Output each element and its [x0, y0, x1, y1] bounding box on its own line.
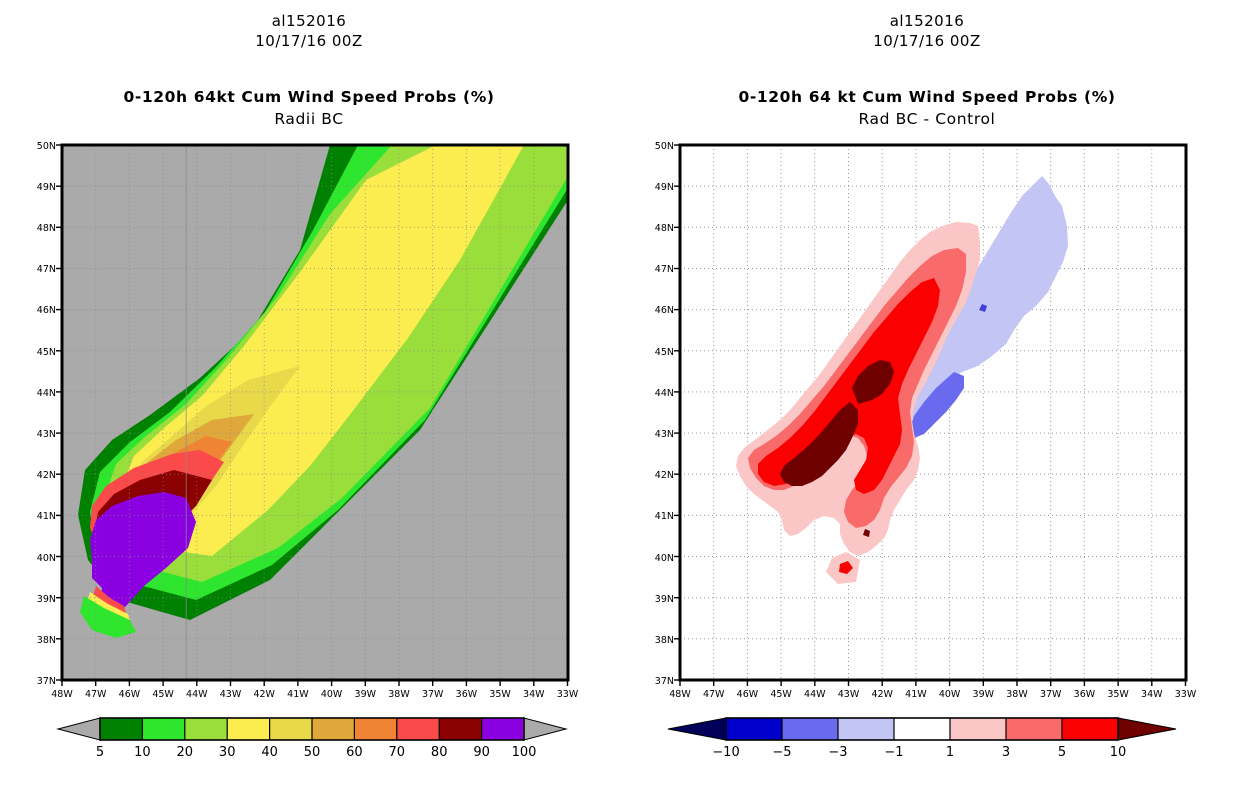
svg-text:45W: 45W [770, 689, 792, 700]
svg-text:44W: 44W [186, 689, 208, 700]
svg-text:38N: 38N [37, 635, 56, 646]
svg-text:49N: 49N [655, 182, 674, 193]
svg-text:20: 20 [177, 745, 194, 760]
svg-text:37W: 37W [422, 689, 444, 700]
svg-text:38N: 38N [655, 635, 674, 646]
svg-text:48W: 48W [669, 689, 691, 700]
svg-text:10: 10 [1110, 745, 1127, 760]
colorbar-extend-high-left [524, 718, 566, 740]
svg-text:35W: 35W [1107, 689, 1129, 700]
svg-text:39W: 39W [355, 689, 377, 700]
svg-text:47N: 47N [655, 264, 674, 275]
svg-text:40: 40 [261, 745, 278, 760]
svg-text:44N: 44N [37, 388, 56, 399]
svg-text:34W: 34W [523, 689, 545, 700]
svg-text:42W: 42W [253, 689, 275, 700]
svg-text:47W: 47W [85, 689, 107, 700]
svg-text:49N: 49N [37, 182, 56, 193]
svg-text:45N: 45N [655, 347, 674, 358]
svg-text:47W: 47W [703, 689, 725, 700]
svg-text:38W: 38W [1006, 689, 1028, 700]
svg-text:40N: 40N [655, 553, 674, 564]
y-axis-right: 50N 49N 48N 47N 46N 45N 44N 43N 42N 41N … [655, 141, 680, 687]
svg-text:43W: 43W [220, 689, 242, 700]
svg-text:40N: 40N [37, 553, 56, 564]
x-axis-right: 48W 47W 46W 45W 44W 43W 42W 41W 40W 39W … [669, 680, 1197, 700]
svg-text:48N: 48N [37, 223, 56, 234]
svg-text:39N: 39N [37, 594, 56, 605]
svg-text:36W: 36W [1074, 689, 1096, 700]
svg-text:3: 3 [1002, 745, 1010, 760]
svg-text:50N: 50N [655, 141, 674, 152]
svg-text:44W: 44W [804, 689, 826, 700]
svg-text:44N: 44N [655, 388, 674, 399]
svg-text:5: 5 [96, 745, 104, 760]
svg-text:42W: 42W [871, 689, 893, 700]
svg-text:40W: 40W [939, 689, 961, 700]
colorbar-ticklabels-left: 5 10 20 30 40 50 60 70 80 90 100 [96, 745, 537, 760]
svg-text:42N: 42N [37, 470, 56, 481]
svg-text:46N: 46N [655, 305, 674, 316]
svg-text:42N: 42N [655, 470, 674, 481]
svg-text:39N: 39N [655, 594, 674, 605]
svg-text:45W: 45W [152, 689, 174, 700]
svg-text:43N: 43N [37, 429, 56, 440]
svg-text:−10: −10 [712, 745, 739, 760]
svg-text:80: 80 [431, 745, 448, 760]
svg-text:37W: 37W [1040, 689, 1062, 700]
svg-text:1: 1 [946, 745, 954, 760]
colorbar-extend-high-right [1118, 718, 1176, 740]
svg-text:45N: 45N [37, 347, 56, 358]
colorbar-left: 5 10 20 30 40 50 60 70 80 90 100 [58, 718, 566, 760]
svg-text:37N: 37N [655, 676, 674, 687]
svg-text:−3: −3 [828, 745, 847, 760]
svg-text:90: 90 [473, 745, 490, 760]
y-axis-left: 50N 49N 48N 47N 46N 45N 44N 43N 42N 41N … [37, 141, 62, 687]
svg-text:46W: 46W [119, 689, 141, 700]
svg-text:37N: 37N [37, 676, 56, 687]
colorbar-ticklabels-right: −10 −5 −3 −1 1 3 5 10 [712, 745, 1126, 760]
svg-text:33W: 33W [1175, 689, 1197, 700]
svg-text:30: 30 [219, 745, 236, 760]
x-axis-left: 48W 47W 46W 45W 44W 43W 42W 41W 40W 39W … [51, 680, 579, 700]
panel-right: al152016 10/17/16 00Z 0-120h 64 kt Cum W… [618, 0, 1236, 800]
panel-right-plot: 50N 49N 48N 47N 46N 45N 44N 43N 42N 41N … [618, 0, 1236, 800]
svg-text:35W: 35W [489, 689, 511, 700]
svg-text:43N: 43N [655, 429, 674, 440]
svg-text:48W: 48W [51, 689, 73, 700]
svg-text:41N: 41N [37, 511, 56, 522]
svg-text:60: 60 [346, 745, 363, 760]
svg-text:5: 5 [1058, 745, 1066, 760]
svg-text:41W: 41W [905, 689, 927, 700]
svg-text:41N: 41N [655, 511, 674, 522]
svg-text:48N: 48N [655, 223, 674, 234]
svg-text:38W: 38W [388, 689, 410, 700]
panel-left: al152016 10/17/16 00Z 0-120h 64kt Cum Wi… [0, 0, 618, 800]
svg-text:34W: 34W [1141, 689, 1163, 700]
colorbar-right: −10 −5 −3 −1 1 3 5 10 [668, 718, 1176, 760]
svg-text:40W: 40W [321, 689, 343, 700]
svg-text:47N: 47N [37, 264, 56, 275]
svg-text:10: 10 [134, 745, 151, 760]
svg-text:50N: 50N [37, 141, 56, 152]
svg-text:33W: 33W [557, 689, 579, 700]
svg-text:36W: 36W [456, 689, 478, 700]
colorbar-extend-low-left [58, 718, 100, 740]
svg-text:50: 50 [304, 745, 321, 760]
svg-text:100: 100 [512, 745, 537, 760]
svg-text:43W: 43W [838, 689, 860, 700]
svg-text:−5: −5 [772, 745, 791, 760]
svg-text:−1: −1 [884, 745, 903, 760]
svg-text:70: 70 [389, 745, 406, 760]
svg-text:41W: 41W [287, 689, 309, 700]
svg-text:39W: 39W [973, 689, 995, 700]
svg-text:46N: 46N [37, 305, 56, 316]
colorbar-extend-low-right [668, 718, 726, 740]
panel-left-plot: 50N 49N 48N 47N 46N 45N 44N 43N 42N 41N … [0, 0, 618, 800]
svg-text:46W: 46W [737, 689, 759, 700]
